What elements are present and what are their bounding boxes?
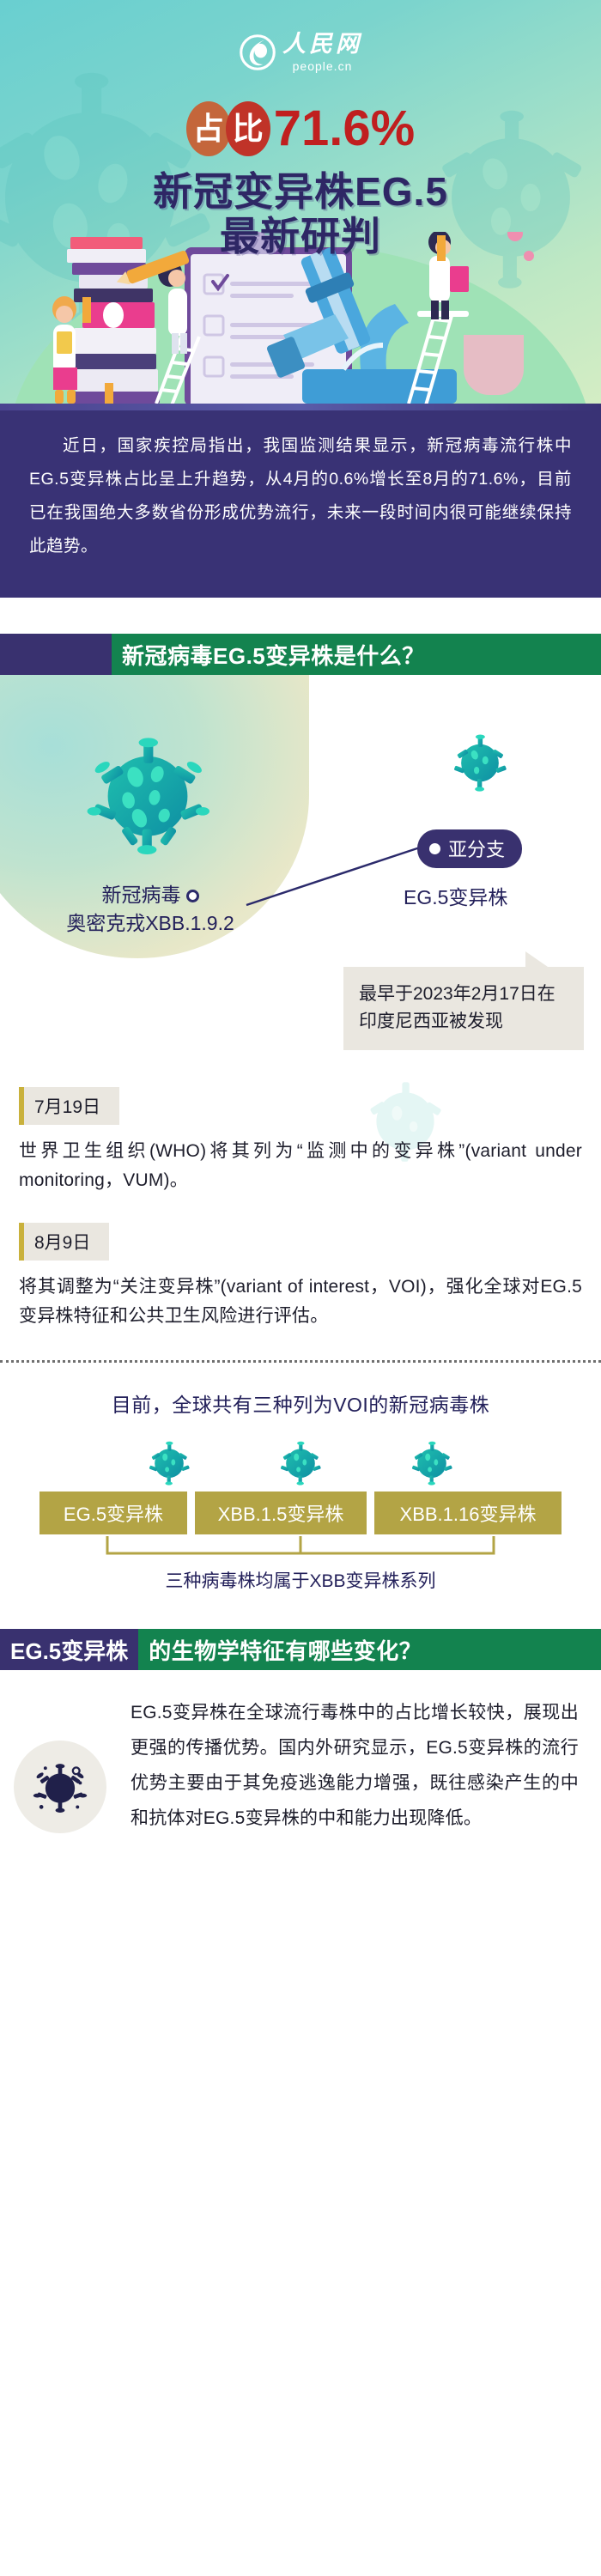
page-title-line1: 新冠变异株EG.5: [0, 170, 601, 215]
main-virus-label: 新冠病毒 奥密克戎XBB.1.9.2: [9, 881, 292, 939]
timeline-date-2: 8月9日: [19, 1223, 109, 1261]
voi-icon-row: [0, 1437, 601, 1488]
pill-label: 亚分支: [448, 835, 505, 862]
percent-badge: 占 比: [186, 101, 270, 156]
section-1-header: 新冠病毒EG.5变异株是什么？: [0, 634, 601, 675]
percent-value: 71.6%: [274, 104, 415, 154]
site-logo[interactable]: 人民网 people.cn: [0, 33, 601, 72]
voi-title: 目前，全球共有三种列为VOI的新冠病毒株: [0, 1388, 601, 1418]
timeline-item-2: 8月9日 将其调整为“关注变异株”(variant of interest，VO…: [0, 1223, 601, 1331]
section-2-paragraph: EG.5变异株在全球流行毒株中的占比增长较快，展现出更强的传播优势。国内外研究显…: [131, 1696, 579, 1837]
callout-wrapper: 最早于2023年2月17日在印度尼西亚被发现: [0, 958, 601, 1087]
section-2-header: EG.5变异株 的生物学特征有哪些变化？: [0, 1629, 601, 1670]
voi-tag-3: XBB.1.16变异株: [374, 1492, 562, 1534]
section-2-header-prefix: EG.5变异株: [0, 1629, 138, 1670]
section-1-header-title: 新冠病毒EG.5变异株是什么？: [112, 634, 601, 675]
logo-name-cn: 人民网: [282, 33, 362, 56]
voi-tag-row: EG.5变异株 XBB.1.5变异株 XBB.1.16变异株: [0, 1492, 601, 1534]
timeline-body-1: 世界卫生组织(WHO)将其列为“监测中的变异株”(variant under m…: [19, 1137, 582, 1195]
section-1-header-accent: [0, 634, 112, 675]
connector-anchor-dot: [186, 890, 199, 902]
coronavirus-icon: [27, 1753, 94, 1820]
eg5-virus-icon: [446, 728, 513, 795]
logo-name-en: people.cn: [293, 60, 353, 72]
timeline-item-1: 7月19日 世界卫生组织(WHO)将其列为“监测中的变异株”(variant u…: [0, 1087, 601, 1195]
section-2-header-title: 的生物学特征有哪些变化？: [138, 1629, 601, 1670]
voi-tag-2: XBB.1.5变异株: [195, 1492, 367, 1534]
main-virus-label-line1: 新冠病毒: [102, 884, 181, 906]
infographic-page: 人民网 people.cn 占 比 71.6% 新冠变异株EG.5 最新研判: [0, 0, 601, 2576]
page-title-line2: 最新研判: [0, 215, 601, 259]
intro-paragraph: 近日，国家疾控局指出，我国监测结果显示，新冠病毒流行株中EG.5变异株占比呈上升…: [29, 429, 572, 563]
voi-brace-icon: [99, 1534, 502, 1564]
omicron-virus-icon: [79, 725, 216, 862]
section-2-body: EG.5变异株在全球流行毒株中的占比增长较快，展现出更强的传播优势。国内外研究显…: [0, 1670, 601, 1871]
voi-footnote: 三种病毒株均属于XBB变异株系列: [0, 1567, 601, 1593]
hero-section: 人民网 people.cn 占 比 71.6% 新冠变异株EG.5 最新研判: [0, 0, 601, 404]
voi-virus-icon: [406, 1437, 458, 1488]
subtype-pill: 亚分支: [417, 829, 522, 868]
intro-section: 近日，国家疾控局指出，我国监测结果显示，新冠病毒流行株中EG.5变异株占比呈上升…: [0, 404, 601, 598]
people-cn-logo-icon: [239, 33, 276, 71]
timeline-body-2: 将其调整为“关注变异株”(variant of interest，VOI)，强化…: [19, 1273, 582, 1331]
intro-top-gradient: [0, 404, 601, 410]
virus-relation-diagram: 新冠病毒 奥密克戎XBB.1.9.2 亚分支 EG.5变异株: [0, 675, 601, 958]
sub-virus-label: EG.5变异株: [404, 881, 507, 910]
percent-headline: 占 比 71.6%: [0, 101, 601, 156]
voi-virus-icon: [143, 1437, 195, 1488]
pill-dot-icon: [429, 843, 440, 854]
voi-tag-1: EG.5变异株: [39, 1492, 187, 1534]
section-2-icon-column: [14, 1696, 125, 1833]
voi-virus-icon: [275, 1437, 326, 1488]
timeline-date-1: 7月19日: [19, 1087, 119, 1125]
badge-chip-2: 比: [226, 101, 270, 156]
page-title: 新冠变异株EG.5 最新研判: [0, 170, 601, 258]
main-virus-label-line2: 奥密克戎XBB.1.9.2: [66, 912, 234, 934]
coronavirus-badge: [14, 1741, 106, 1833]
logo-text: 人民网 people.cn: [282, 33, 362, 72]
voi-group: 目前，全球共有三种列为VOI的新冠病毒株: [0, 1363, 601, 1593]
discovery-callout: 最早于2023年2月17日在印度尼西亚被发现: [343, 967, 584, 1050]
badge-chip-1: 占: [186, 101, 231, 156]
